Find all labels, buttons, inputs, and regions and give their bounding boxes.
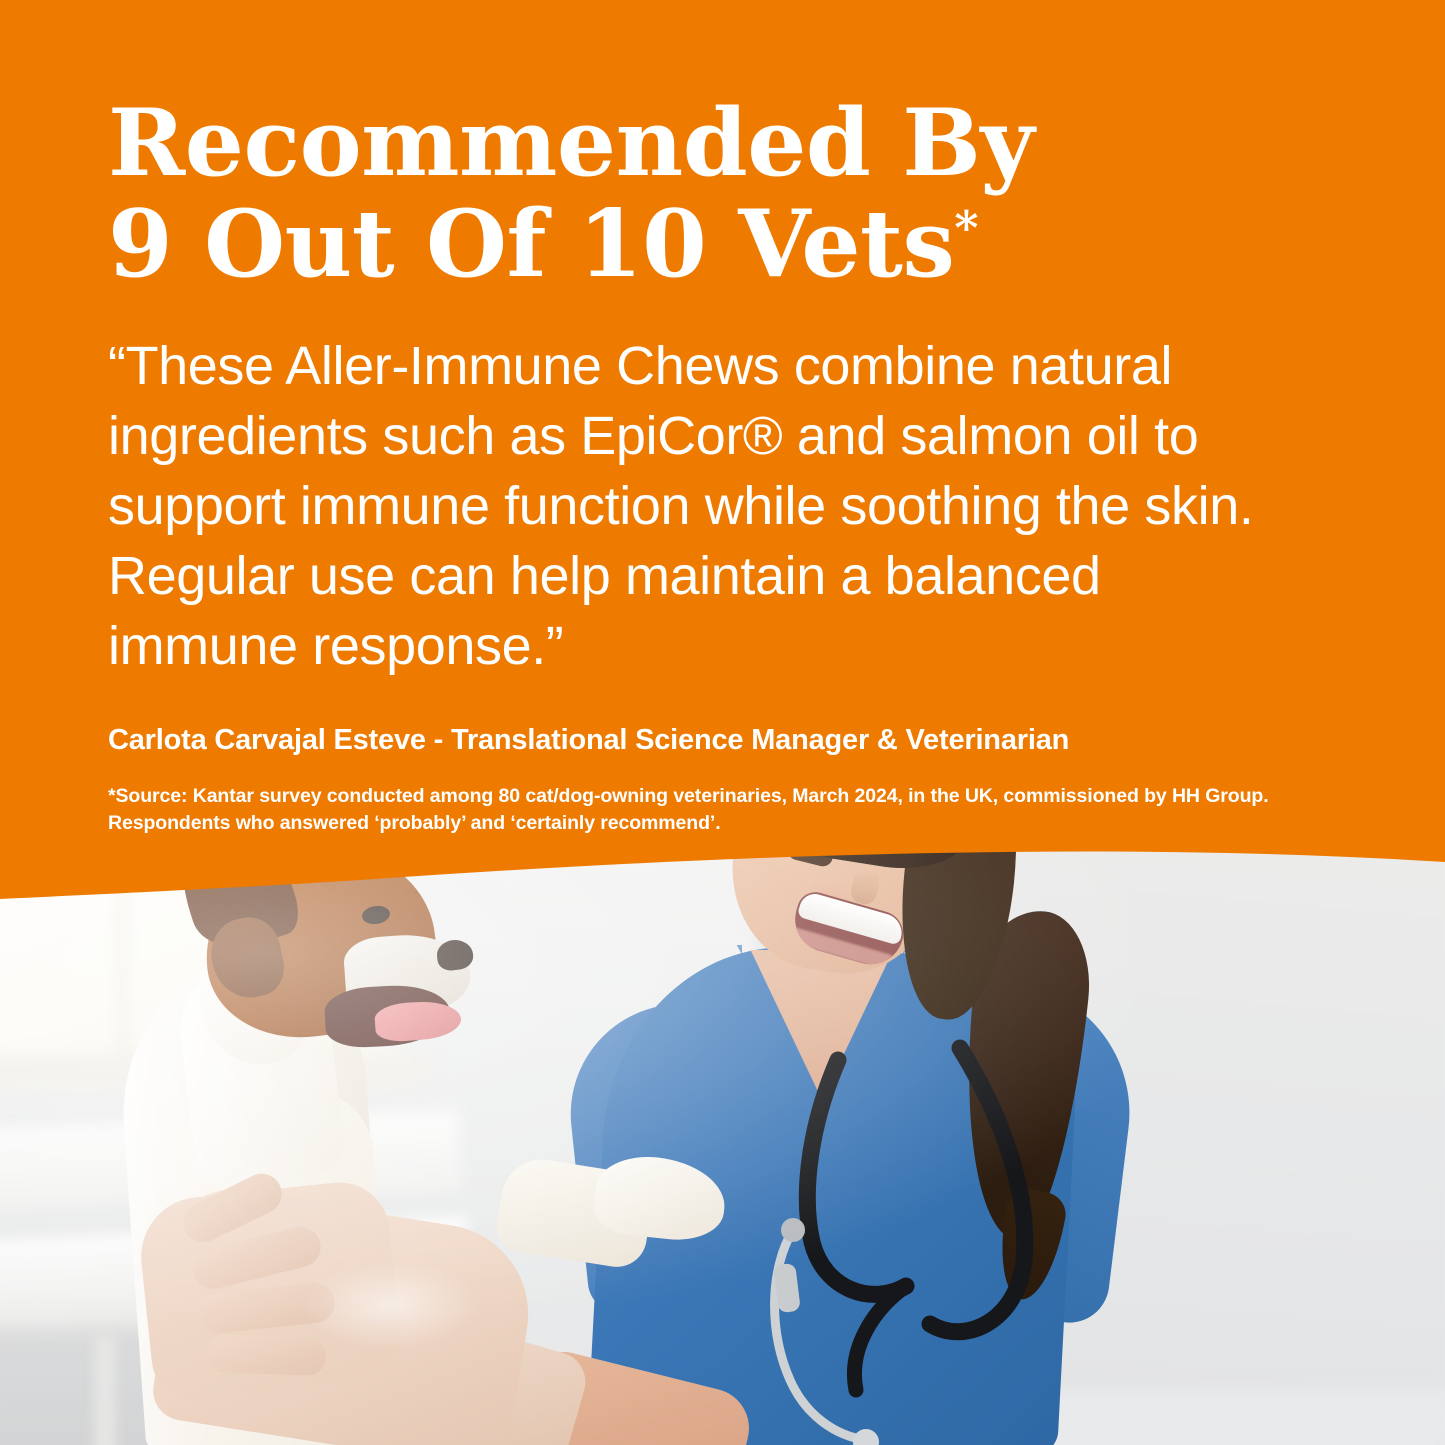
testimonial-quote: “These Aller-Immune Chews combine natura… bbox=[108, 331, 1283, 682]
wall-baseboard bbox=[1010, 1390, 1445, 1445]
headline-asterisk: * bbox=[954, 201, 978, 255]
promo-banner: Recommended By 9 Out Of 10 Vets* “These … bbox=[0, 0, 1445, 1445]
table-leg bbox=[95, 1335, 115, 1445]
headline-line-1: Recommended By bbox=[108, 88, 1034, 197]
headline-line-2: 9 Out Of 10 Vets bbox=[108, 189, 954, 298]
quote-attribution: Carlota Carvajal Esteve - Translational … bbox=[108, 724, 1337, 757]
banner-content: Recommended By 9 Out Of 10 Vets* “These … bbox=[0, 0, 1445, 836]
glove-highlight bbox=[300, 1260, 480, 1350]
page-title: Recommended By 9 Out Of 10 Vets* bbox=[108, 92, 1337, 295]
dog-tongue bbox=[374, 999, 462, 1043]
source-footnote: *Source: Kantar survey conducted among 8… bbox=[108, 783, 1298, 837]
